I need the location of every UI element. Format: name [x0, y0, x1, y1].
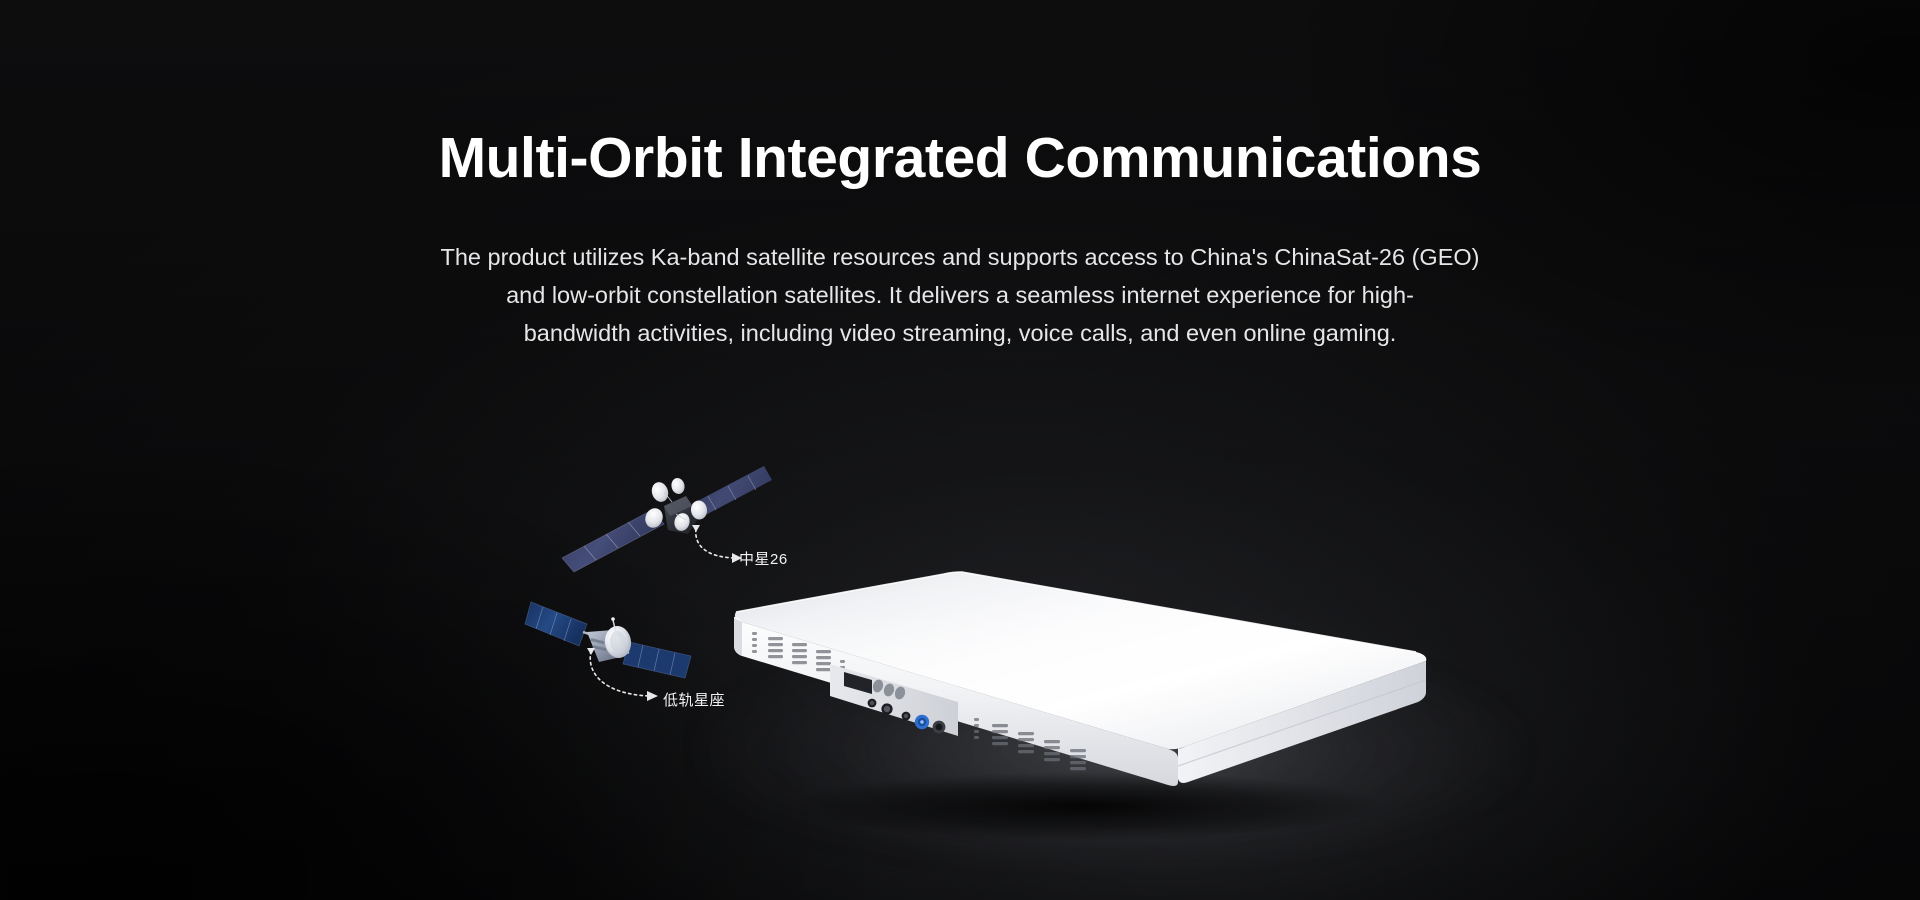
leo-solar-panel-right — [623, 642, 691, 678]
device-shadow — [786, 772, 1386, 840]
port-accent-blue — [915, 715, 929, 729]
device-left-cap — [734, 618, 742, 656]
callout-label-leo: 低轨星座 — [663, 689, 725, 710]
leo-solar-panel-left — [525, 602, 587, 646]
hero-section: Multi-Orbit Integrated Communications Th… — [0, 0, 1920, 900]
port-threaded — [933, 721, 946, 734]
hero-description-line-2: and low-orbit constellation satellites. … — [260, 276, 1660, 314]
page-title: Multi-Orbit Integrated Communications — [0, 0, 1920, 190]
hero-description-line-1: The product utilizes Ka-band satellite r… — [260, 238, 1660, 276]
satellite-leo-constellation — [525, 580, 715, 695]
hero-description: The product utilizes Ka-band satellite r… — [260, 190, 1660, 352]
satellite-terminal-device — [726, 560, 1466, 840]
hero-description-line-3: bandwidth activities, including video st… — [260, 314, 1660, 352]
callout-label-geo: 中星26 — [739, 548, 788, 569]
hero-text-block: Multi-Orbit Integrated Communications Th… — [0, 0, 1920, 352]
